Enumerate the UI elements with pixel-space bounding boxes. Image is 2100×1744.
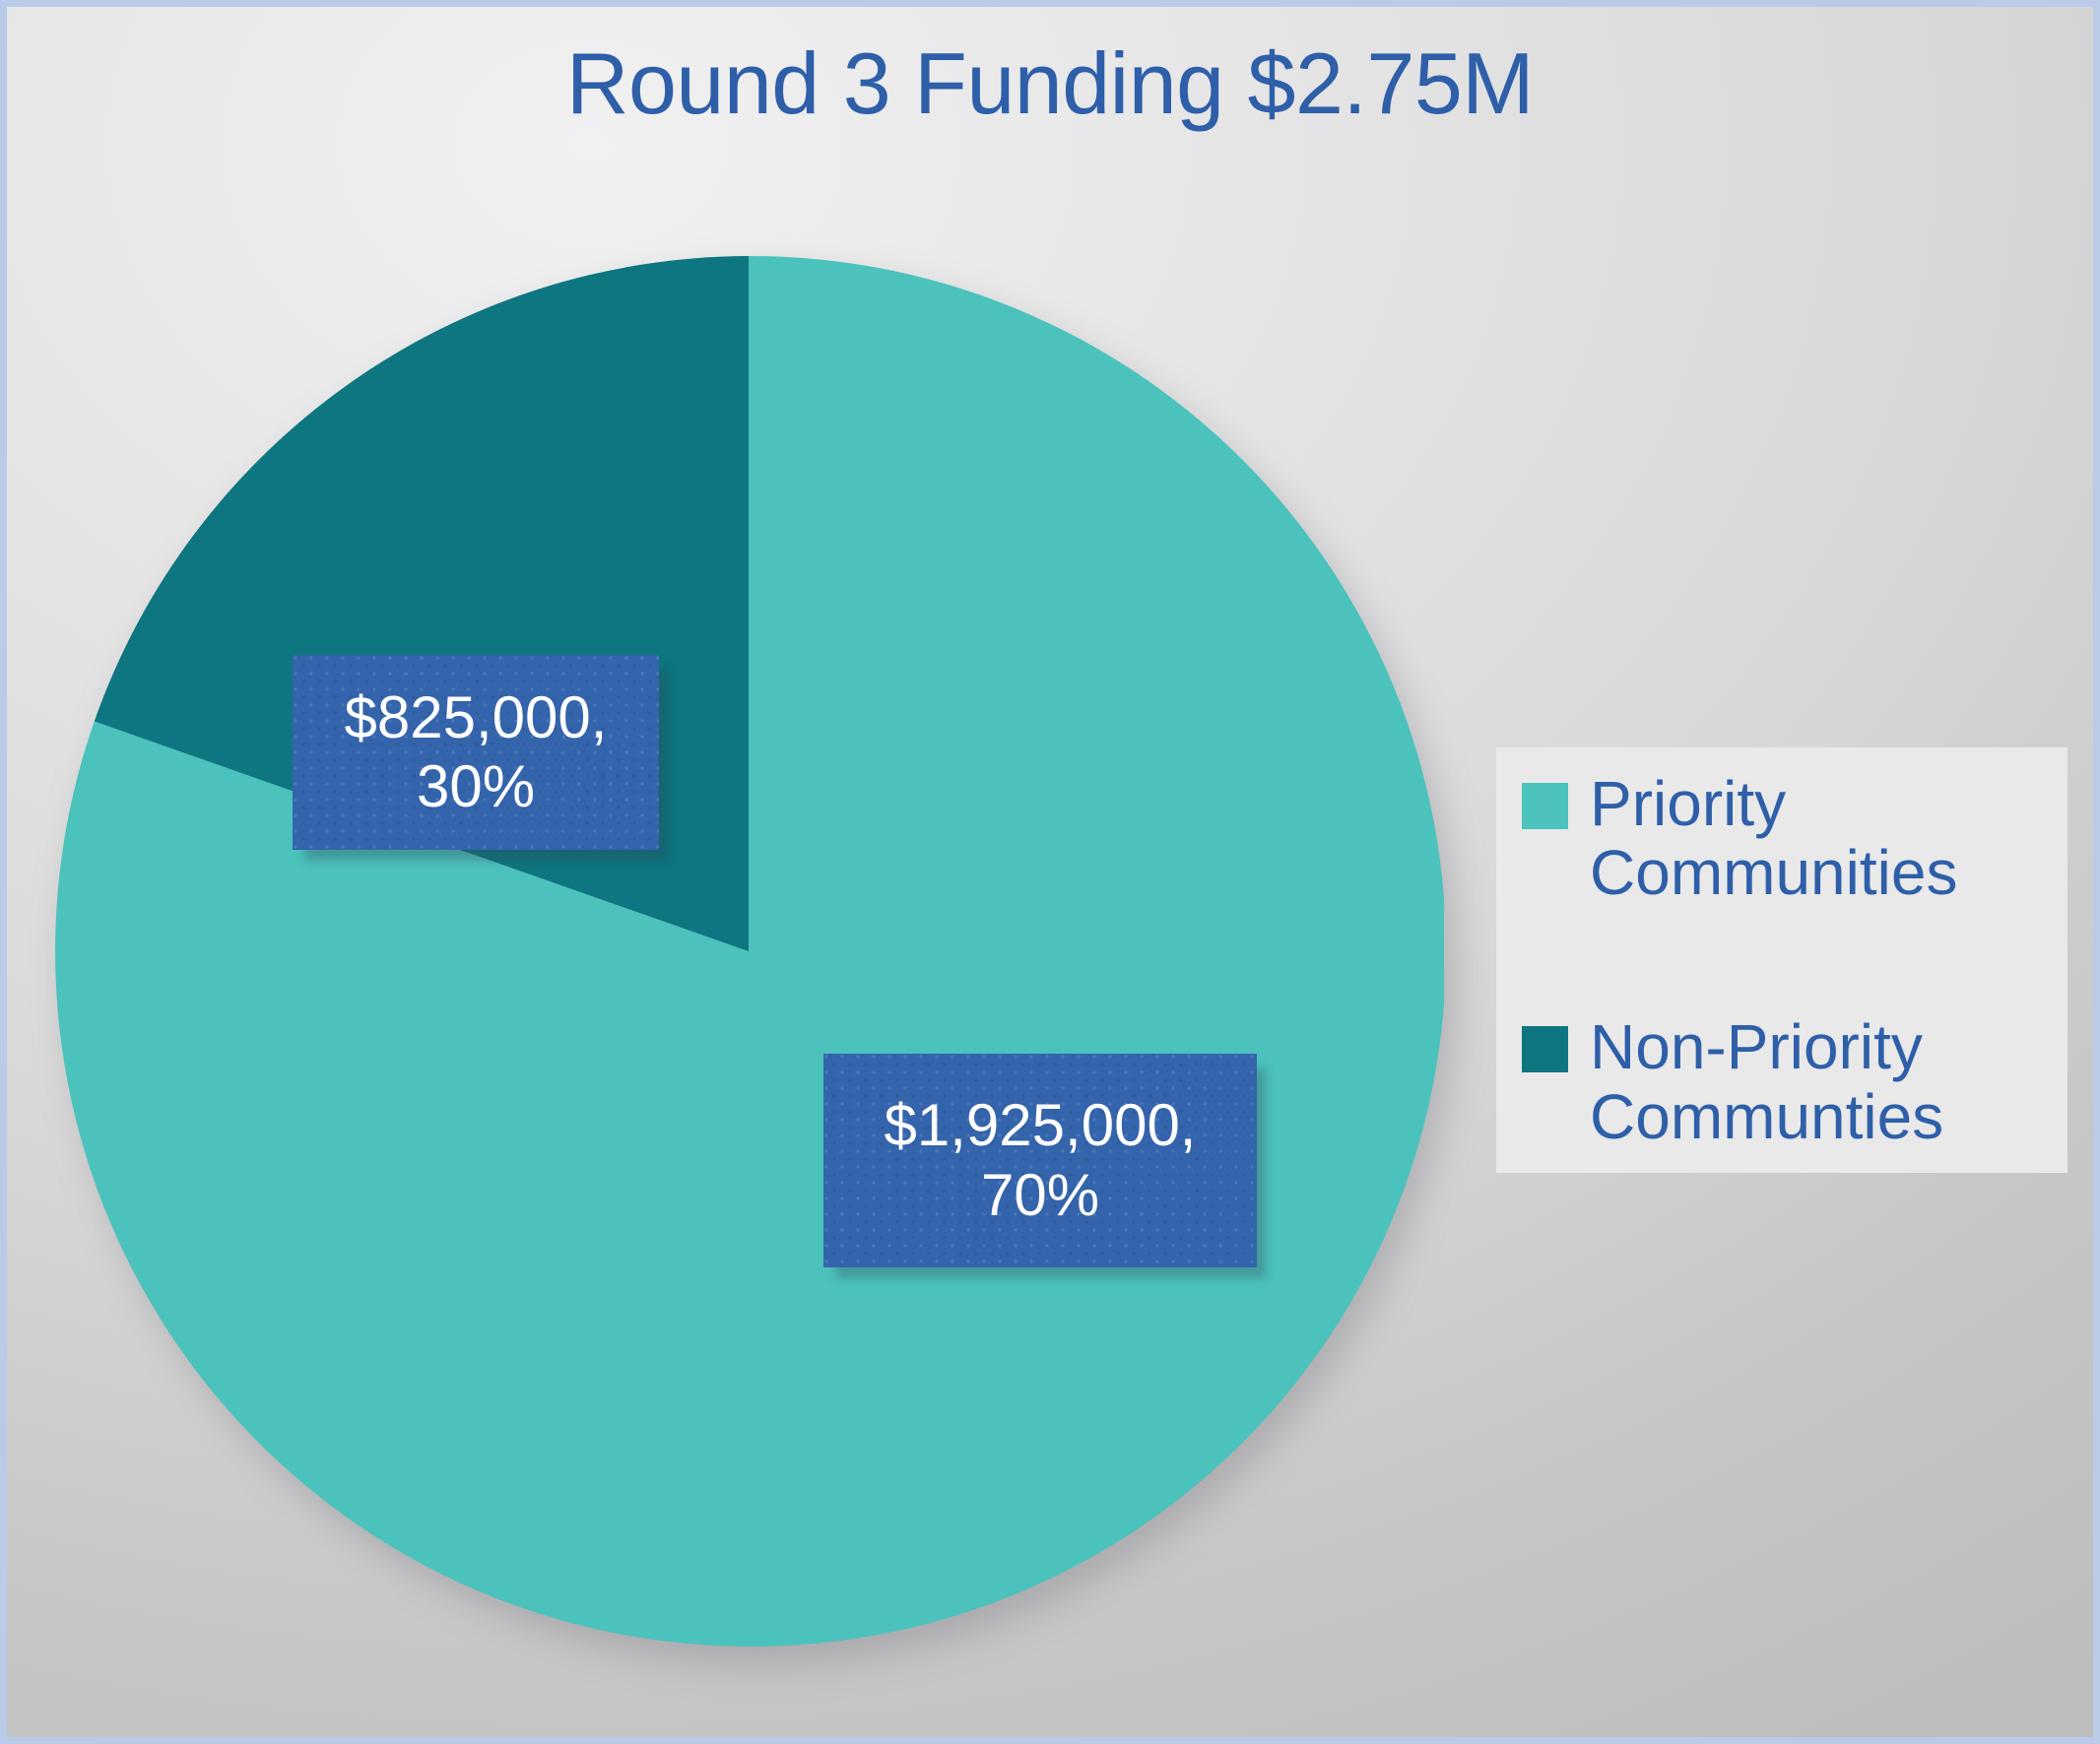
chart-legend: Priority Communities Non-Priority Commun… (1496, 747, 2067, 1173)
legend-item-non-priority-communties[interactable]: Non-Priority Communties (1522, 1012, 2050, 1151)
pie-svg (53, 256, 1444, 1647)
data-label-percent: 70% (981, 1161, 1099, 1230)
data-label-percent: 30% (417, 752, 535, 821)
legend-item-label: Priority Communities (1590, 769, 2050, 908)
data-label-priority-communities: $1,925,000, 70% (823, 1054, 1257, 1267)
page-title: Round 3 Funding $2.75M (7, 36, 2093, 130)
legend-swatch-icon (1522, 1026, 1568, 1072)
pie-plot-area (53, 256, 1444, 1647)
legend-item-label: Non-Priority Communties (1590, 1012, 2050, 1151)
legend-item-priority-communities[interactable]: Priority Communities (1522, 769, 2050, 908)
data-label-value: $1,925,000, (885, 1091, 1197, 1160)
legend-swatch-icon (1522, 783, 1568, 829)
pie-chart-figure: Round 3 Funding $2.75M $825,000, 30% $1,… (0, 0, 2100, 1744)
data-label-non-priority-communties: $825,000, 30% (293, 655, 659, 850)
data-label-value: $825,000, (345, 683, 608, 752)
